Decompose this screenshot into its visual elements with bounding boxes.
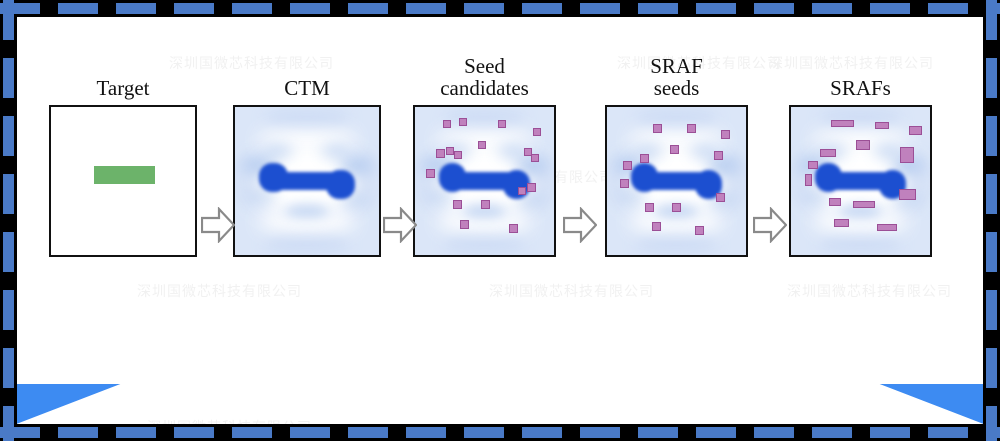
sraf-rectangle xyxy=(900,147,914,163)
seed-marker xyxy=(672,203,681,212)
stage-label-sraf-seeds: SRAF seeds xyxy=(650,55,703,100)
sraf-rectangle xyxy=(856,140,870,150)
block-arrow-icon xyxy=(201,207,235,243)
stage-panel-srafs[interactable] xyxy=(789,105,932,257)
stage-label-seed-candidates: Seed candidates xyxy=(440,55,529,100)
stage-label-ctm: CTM xyxy=(284,77,330,99)
main-feature-shape xyxy=(439,163,531,199)
block-arrow-icon xyxy=(383,207,417,243)
stage-panel-sraf-seeds[interactable] xyxy=(605,105,748,257)
pipeline-stage-seed-candidates: Seed candidates xyxy=(413,105,556,257)
sraf-rectangle xyxy=(909,126,922,135)
seed-marker xyxy=(533,128,541,136)
dashed-border-right xyxy=(986,0,997,441)
seed-marker xyxy=(454,151,462,159)
pipeline-stage-target: Target xyxy=(49,105,197,257)
seed-marker xyxy=(436,149,445,158)
seed-marker xyxy=(459,118,467,126)
stage-panel-target[interactable] xyxy=(49,105,197,257)
seed-marker xyxy=(453,200,462,209)
seed-marker xyxy=(645,203,654,212)
sraf-rectangle xyxy=(805,174,812,186)
seed-marker xyxy=(670,145,679,154)
pipeline-stage-srafs: SRAFs xyxy=(789,105,932,257)
sraf-rectangle xyxy=(829,198,841,206)
sraf-rectangle xyxy=(899,189,916,200)
seed-marker xyxy=(446,147,454,155)
seed-marker xyxy=(518,187,526,195)
seed-marker xyxy=(652,222,661,231)
seed-marker xyxy=(716,193,725,202)
seed-marker xyxy=(640,154,649,163)
pipeline-stage-ctm: CTM xyxy=(233,105,381,257)
arrow-ctm-seeds xyxy=(383,207,417,243)
main-feature-shape xyxy=(259,163,354,199)
arrow-seeds-srafseeds xyxy=(563,207,597,243)
sraf-rectangle xyxy=(875,122,889,129)
target-pattern-rect xyxy=(94,166,154,184)
feature-end-left xyxy=(439,163,467,192)
corner-triangle-bottom-right xyxy=(879,384,983,424)
stage-panel-ctm[interactable] xyxy=(233,105,381,257)
feature-end-left xyxy=(259,163,288,192)
sraf-rectangle xyxy=(831,120,854,127)
feature-end-left xyxy=(815,163,843,192)
figure-frame: 深圳国微芯科技有限公司深圳国微芯科技有限公司深圳国微芯科技有限公司深圳国微芯科技… xyxy=(0,0,1000,441)
arrow-srafseeds-srafs xyxy=(753,207,787,243)
feature-end-left xyxy=(631,163,659,192)
seed-marker xyxy=(481,200,490,209)
sraf-rectangle xyxy=(808,161,818,169)
pipeline-stage-sraf-seeds: SRAF seeds xyxy=(605,105,748,257)
seed-marker xyxy=(714,151,723,160)
dashed-border-top xyxy=(0,3,1000,14)
seed-marker xyxy=(695,226,704,235)
arrow-target-ctm xyxy=(201,207,235,243)
seed-marker xyxy=(443,120,451,128)
main-feature-shape xyxy=(815,163,907,199)
seed-marker xyxy=(721,130,730,139)
seed-marker xyxy=(478,141,486,149)
block-arrow-icon xyxy=(563,207,597,243)
seed-marker xyxy=(531,154,539,162)
seed-marker xyxy=(498,120,506,128)
seed-marker xyxy=(623,161,632,170)
sraf-rectangle xyxy=(834,219,849,227)
sraf-pipeline-diagram: TargetCTMSeed candidatesSRAF seedsSRAFs xyxy=(17,17,983,424)
stage-label-target: Target xyxy=(97,77,150,99)
seed-marker xyxy=(527,183,536,192)
seed-marker xyxy=(509,224,518,233)
sraf-rectangle xyxy=(877,224,897,231)
sraf-rectangle xyxy=(820,149,836,157)
seed-marker xyxy=(426,169,435,178)
feature-wrapper xyxy=(235,107,379,255)
dashed-border-bottom xyxy=(0,427,1000,438)
seed-marker xyxy=(687,124,696,133)
figure-canvas: 深圳国微芯科技有限公司深圳国微芯科技有限公司深圳国微芯科技有限公司深圳国微芯科技… xyxy=(17,17,983,424)
feature-end-right xyxy=(326,170,355,199)
seed-marker xyxy=(620,179,629,188)
seed-marker xyxy=(460,220,469,229)
block-arrow-icon xyxy=(753,207,787,243)
dashed-border-left xyxy=(3,0,14,441)
stage-panel-seed-candidates[interactable] xyxy=(413,105,556,257)
seed-marker xyxy=(653,124,662,133)
stage-label-srafs: SRAFs xyxy=(830,77,891,99)
sraf-rectangle xyxy=(853,201,875,208)
main-feature-shape xyxy=(631,163,723,199)
corner-triangle-bottom-left xyxy=(17,384,121,424)
